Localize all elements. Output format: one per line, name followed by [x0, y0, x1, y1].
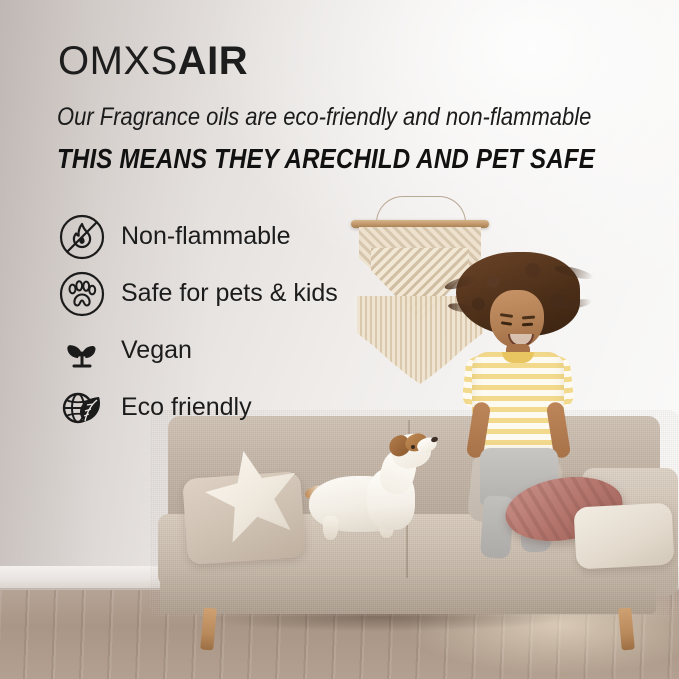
dog-eye — [411, 445, 415, 449]
brand-name-bold: AIR — [178, 39, 248, 83]
feature-label: Vegan — [121, 336, 192, 365]
product-lifestyle-image: OMXSAIR Our Fragrance oils are eco-frien… — [0, 0, 679, 679]
dog-hind-leg — [323, 516, 338, 540]
tagline: Our Fragrance oils are eco-friendly and … — [57, 103, 591, 132]
paw-print-icon — [57, 269, 107, 319]
cream-cushion-right — [573, 502, 674, 569]
feature-item-non-flammable: Non-flammable — [57, 208, 387, 265]
macrame-hanging-cord — [376, 196, 466, 223]
jack-russell-terrier — [305, 432, 435, 542]
brand-name-light: OMXS — [58, 39, 178, 83]
feature-item-vegan: Vegan — [57, 322, 387, 379]
sprout-icon — [57, 326, 107, 376]
brand-logo: OMXSAIR — [58, 39, 248, 84]
feature-item-eco-friendly: Eco friendly — [57, 379, 387, 436]
claim-headline: THIS MEANS THEY ARECHILD AND PET SAFE — [57, 143, 595, 175]
globe-leaf-icon — [57, 383, 107, 433]
feature-item-safe-for-pets-kids: Safe for pets & kids — [57, 265, 387, 322]
feature-label: Non-flammable — [121, 222, 291, 251]
feature-label: Safe for pets & kids — [121, 279, 338, 308]
feature-list: Non-flammable Safe for pets & kids Vegan — [57, 208, 387, 436]
no-flame-icon — [57, 212, 107, 262]
feature-label: Eco friendly — [121, 393, 252, 422]
sofa-base — [160, 578, 656, 614]
